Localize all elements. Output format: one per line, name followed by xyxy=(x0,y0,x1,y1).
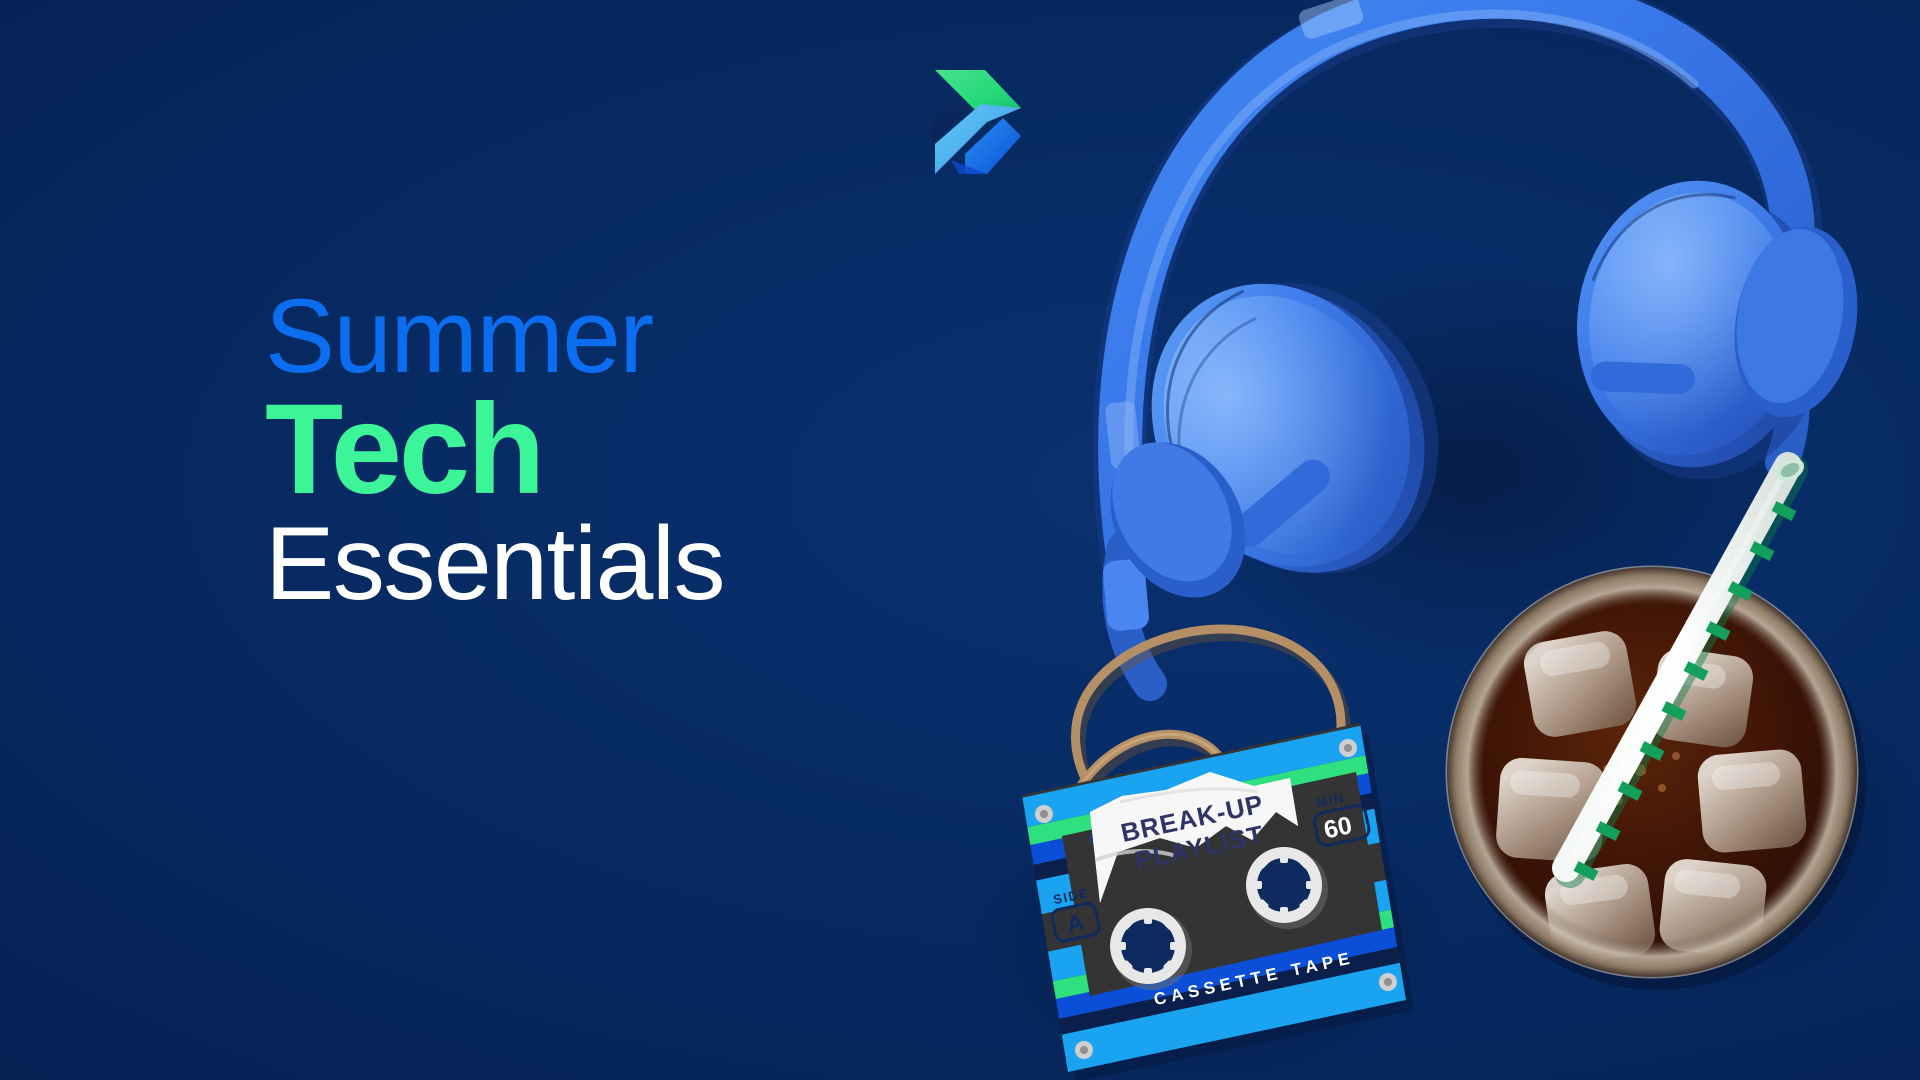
cassette-screws xyxy=(1035,739,1397,1059)
headline-line-3: Essentials xyxy=(265,510,885,619)
brand-logo[interactable] xyxy=(925,52,1025,182)
cassette-label-line2: PLAYLIST xyxy=(1132,819,1267,876)
striped-straw xyxy=(1566,454,1808,876)
headline-line-2: Tech xyxy=(265,388,885,512)
headline-line-1: Summer xyxy=(265,282,885,392)
audio-cable-graphic xyxy=(1058,629,1345,1016)
cassette-handwritten-label: BREAK-UP PLAYLIST xyxy=(1090,772,1298,903)
cassette-reel-left xyxy=(1110,908,1192,990)
chevron-logo-icon xyxy=(925,52,1025,182)
ice-cubes xyxy=(1495,628,1808,967)
cassette-side-badge: SIDE A xyxy=(1047,884,1100,942)
cassette-footer-text: CASSETTE TAPE xyxy=(1152,948,1356,1009)
cassette-reel-right xyxy=(1246,847,1328,929)
cassette-label-line1: BREAK-UP xyxy=(1118,789,1266,849)
cassette-minutes-badge: MIN 60 xyxy=(1309,786,1370,847)
banner-canvas: Summer Tech Essentials xyxy=(0,0,1920,1080)
headphones-graphic xyxy=(1083,0,1871,684)
cassette-minutes-value: 60 xyxy=(1321,811,1354,844)
headline-block: Summer Tech Essentials xyxy=(265,282,885,620)
cassette-minutes-label: MIN xyxy=(1315,790,1346,811)
iced-drink-graphic xyxy=(1447,454,1866,990)
cassette-footer: CASSETTE TAPE xyxy=(1152,948,1356,1009)
cassette-side-label: SIDE xyxy=(1052,885,1091,907)
cassette-tape-graphic: SIDE A MIN 60 CASSETTE TAPE xyxy=(966,714,1474,1080)
cassette-side-value: A xyxy=(1064,909,1087,939)
